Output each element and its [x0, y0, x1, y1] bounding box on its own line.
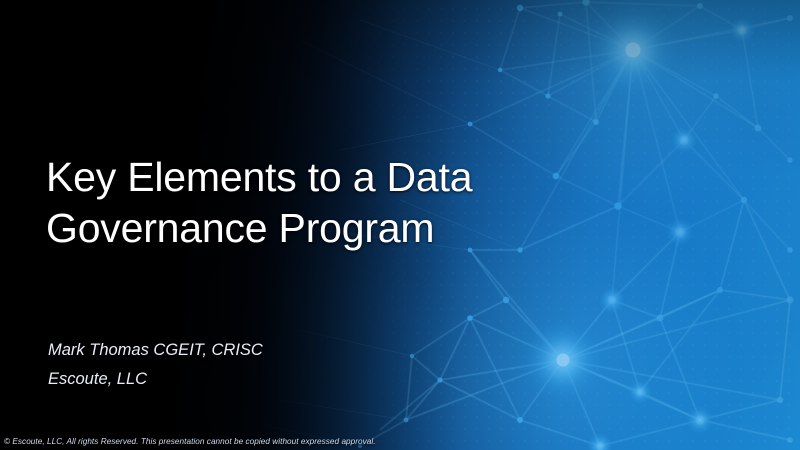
slide-subtitle: Mark Thomas CGEIT, CRISC Escoute, LLC — [48, 336, 263, 394]
slide-title: Key Elements to a Data Governance Progra… — [46, 152, 566, 254]
copyright-footer: © Escoute, LLC, All rights Reserved. Thi… — [4, 436, 376, 447]
presentation-slide: Key Elements to a Data Governance Progra… — [0, 0, 800, 450]
presenter-name: Mark Thomas CGEIT, CRISC — [48, 336, 263, 365]
presenter-company: Escoute, LLC — [48, 365, 263, 394]
